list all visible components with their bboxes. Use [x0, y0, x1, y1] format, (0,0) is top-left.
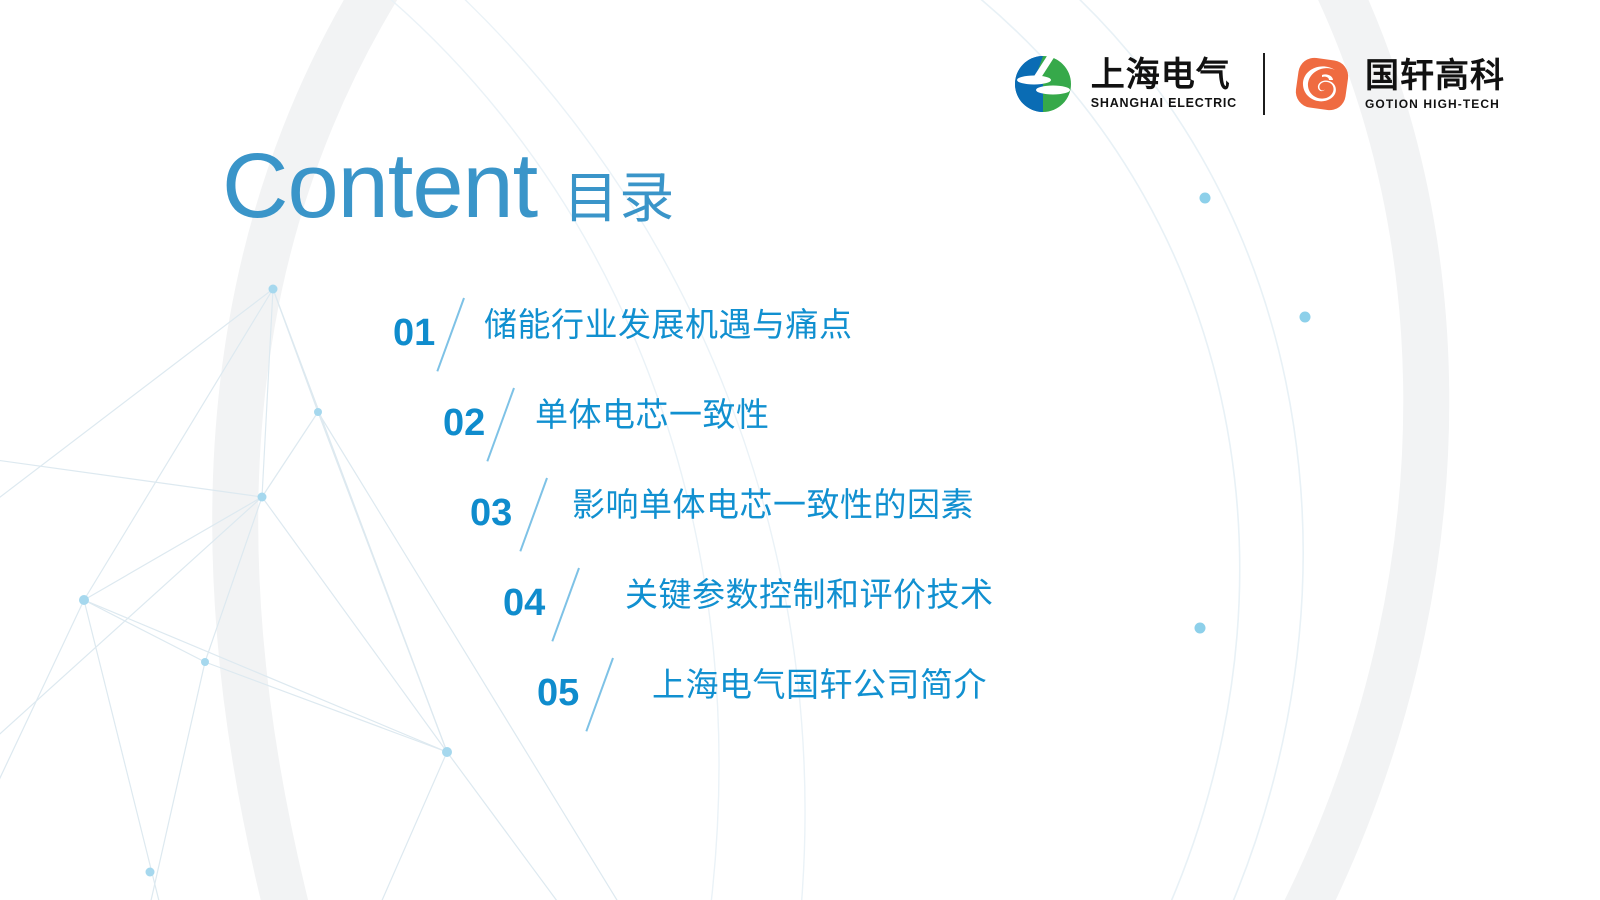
shanghai-electric-en: SHANGHAI ELECTRIC	[1091, 97, 1237, 110]
gotion-wordmark: 国轩高科 GOTION HIGH-TECH	[1365, 59, 1505, 110]
page-title: Content 目录	[222, 140, 675, 232]
slide-canvas: 上海电气 SHANGHAI ELECTRIC 国轩高科 GOTION HIGH-…	[0, 0, 1600, 900]
toc-number-01: 01	[393, 314, 435, 352]
gotion-cn: 国轩高科	[1365, 59, 1505, 93]
toc-slash-02	[486, 388, 515, 462]
shanghai-electric-cn: 上海电气	[1091, 58, 1237, 92]
gotion-mark-icon	[1291, 53, 1353, 115]
toc-number-04: 04	[503, 584, 545, 622]
logo-bar: 上海电气 SHANGHAI ELECTRIC 国轩高科 GOTION HIGH-…	[1007, 48, 1505, 120]
toc-item-01[interactable]: 01 储能行业发展机遇与痛点	[0, 300, 1600, 390]
toc-number-03: 03	[470, 494, 512, 532]
toc-number-05: 05	[537, 674, 579, 712]
toc-item-02[interactable]: 02 单体电芯一致性	[0, 390, 1600, 480]
gotion-logo: 国轩高科 GOTION HIGH-TECH	[1291, 53, 1505, 115]
toc-item-05[interactable]: 05 上海电气国轩公司简介	[0, 660, 1600, 750]
toc-label-05: 上海电气国轩公司简介	[652, 668, 987, 701]
table-of-contents: 01 储能行业发展机遇与痛点 02 单体电芯一致性 03 影响单体电芯一致性的因…	[0, 300, 1600, 750]
shanghai-electric-wordmark: 上海电气 SHANGHAI ELECTRIC	[1091, 58, 1237, 110]
toc-number-02: 02	[443, 404, 485, 442]
toc-slash-03	[519, 478, 548, 552]
toc-item-03[interactable]: 03 影响单体电芯一致性的因素	[0, 480, 1600, 570]
toc-slash-04	[551, 568, 580, 642]
shanghai-electric-mark-icon	[1007, 53, 1079, 115]
toc-label-02: 单体电芯一致性	[535, 398, 770, 431]
logo-divider	[1263, 53, 1265, 115]
toc-label-04: 关键参数控制和评价技术	[625, 578, 994, 611]
shanghai-electric-logo: 上海电气 SHANGHAI ELECTRIC	[1007, 53, 1237, 115]
toc-label-03: 影响单体电芯一致性的因素	[572, 488, 974, 521]
toc-item-04[interactable]: 04 关键参数控制和评价技术	[0, 570, 1600, 660]
page-title-cn: 目录	[563, 171, 675, 226]
page-title-en: Content	[222, 140, 537, 232]
gotion-en: GOTION HIGH-TECH	[1365, 98, 1505, 110]
toc-slash-01	[436, 298, 465, 372]
toc-label-01: 储能行业发展机遇与痛点	[484, 308, 853, 341]
toc-slash-05	[585, 658, 614, 732]
